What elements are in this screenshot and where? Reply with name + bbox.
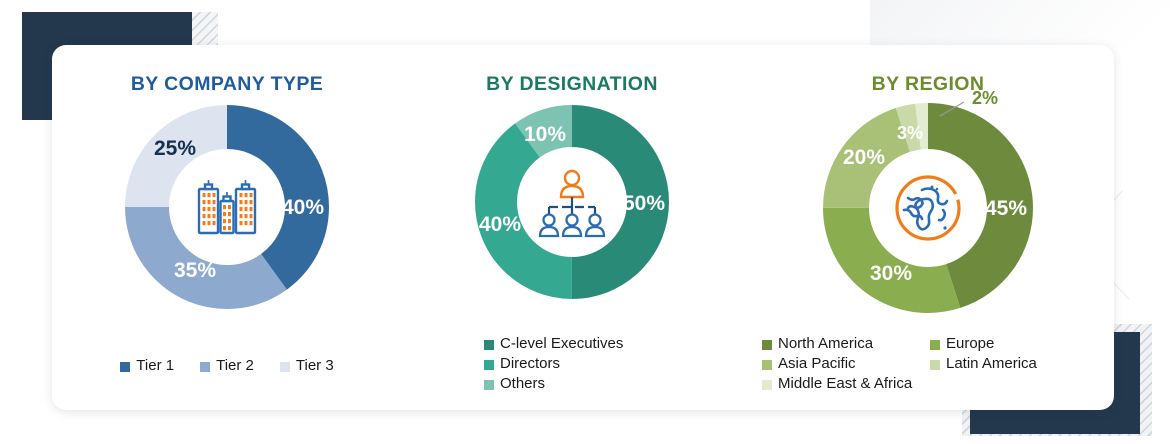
- legend-label-asia-pacific: Asia Pacific: [778, 355, 856, 372]
- panel-by-region: BY REGION 45% 30% 20%: [742, 45, 1114, 410]
- legend-item-middle-east-africa[interactable]: Middle East & Africa: [762, 375, 912, 392]
- legend-item-tier-2[interactable]: Tier 2: [200, 357, 254, 374]
- legend-swatch-tier-1: [120, 362, 130, 372]
- legend-item-tier-3[interactable]: Tier 3: [280, 357, 334, 374]
- legend-swatch-asia-pacific: [762, 360, 772, 370]
- org-chart-icon: [534, 166, 610, 238]
- infographic-card: BY COMPANY TYPE 40% 35% 25%: [52, 45, 1114, 410]
- panel-title-designation: BY DESIGNATION: [402, 73, 742, 96]
- donut-chart-company-type: 40% 35% 25%: [124, 104, 330, 310]
- legend-label-latin-america: Latin America: [946, 355, 1037, 372]
- legend-label-tier-2: Tier 2: [216, 357, 254, 374]
- legend-item-europe[interactable]: Europe: [930, 335, 1090, 352]
- legend-label-directors: Directors: [500, 355, 560, 372]
- legend-swatch-tier-3: [280, 362, 290, 372]
- legend-label-europe: Europe: [946, 335, 994, 352]
- globe-icon: [888, 168, 968, 248]
- legend-swatch-others: [484, 380, 494, 390]
- legend-item-others[interactable]: Others: [444, 375, 545, 392]
- legend-swatch-latin-america: [930, 360, 940, 370]
- panel-by-designation: BY DESIGNATION 50% 40% 10%: [402, 45, 742, 410]
- panel-title-company-type: BY COMPANY TYPE: [52, 73, 402, 96]
- legend-swatch-europe: [930, 340, 940, 350]
- legend-item-tier-1[interactable]: Tier 1: [120, 357, 174, 374]
- legend-label-tier-1: Tier 1: [136, 357, 174, 374]
- legend-swatch-directors: [484, 360, 494, 370]
- donut-chart-region: 45% 30% 20% 3% 2%: [822, 102, 1034, 314]
- buildings-icon: [191, 171, 263, 243]
- legend-item-asia-pacific[interactable]: Asia Pacific: [762, 355, 912, 372]
- legend-label-c-level-executives: C-level Executives: [500, 335, 623, 352]
- legend-swatch-c-level-executives: [484, 340, 494, 350]
- legend-label-north-america: North America: [778, 335, 873, 352]
- legend-label-middle-east-africa: Middle East & Africa: [778, 375, 912, 392]
- legend-swatch-tier-2: [200, 362, 210, 372]
- legend-item-latin-america[interactable]: Latin America: [930, 355, 1090, 372]
- legend-company-type: Tier 1 Tier 2 Tier 3: [52, 357, 402, 374]
- legend-item-c-level-executives[interactable]: C-level Executives: [444, 335, 623, 352]
- legend-item-north-america[interactable]: North America: [762, 335, 912, 352]
- legend-label-tier-3: Tier 3: [296, 357, 334, 374]
- panel-title-region: BY REGION: [742, 73, 1114, 96]
- panel-by-company-type: BY COMPANY TYPE 40% 35% 25%: [52, 45, 402, 410]
- legend-label-others: Others: [500, 375, 545, 392]
- legend-swatch-north-america: [762, 340, 772, 350]
- legend-item-directors[interactable]: Directors: [444, 355, 560, 372]
- legend-swatch-middle-east-africa: [762, 380, 772, 390]
- legend-designation: C-level Executives Directors Others: [444, 335, 742, 392]
- donut-chart-designation: 50% 40% 10%: [474, 104, 670, 300]
- legend-region: North America Europe Asia Pacific Latin …: [752, 335, 1114, 392]
